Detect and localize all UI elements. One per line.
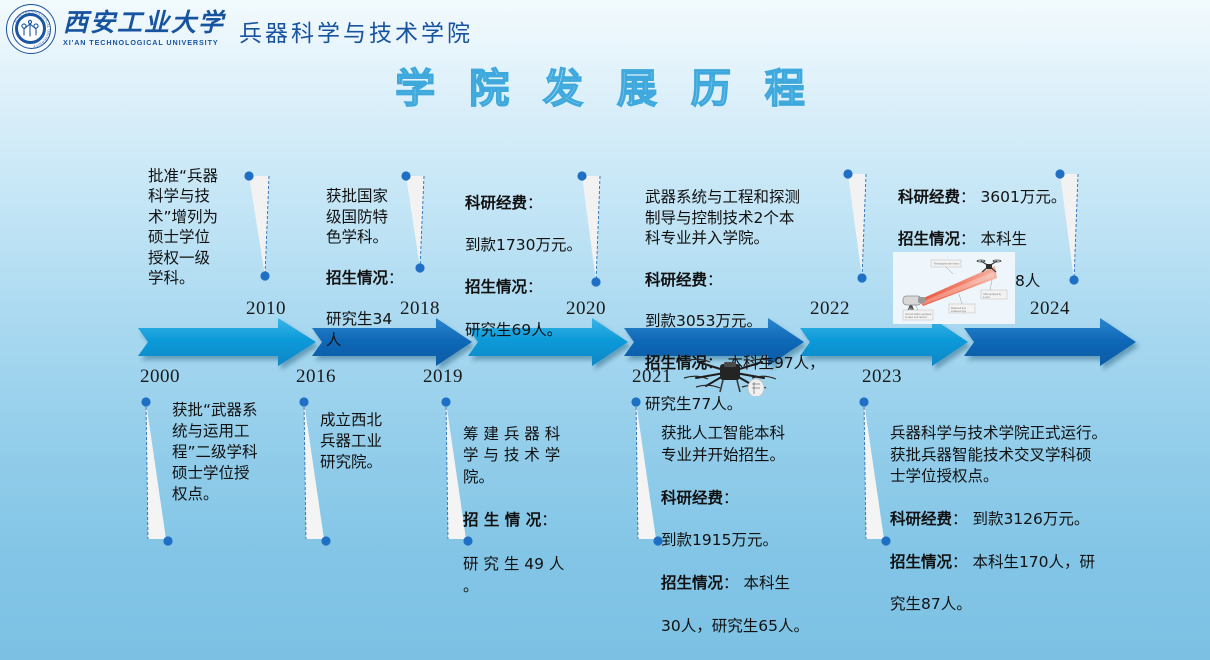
slide-canvas: XI'AN TECHNOLOGICAL UNIVERSITY 西安工业大学 XI…	[0, 0, 1210, 660]
year-label-2023: 2023	[862, 366, 902, 388]
sep-2018: ：	[388, 269, 404, 287]
timeline-arrow-band	[0, 318, 1210, 374]
event-2018-line-1: 获批国家 级国防特 色学科。	[326, 186, 412, 247]
event-2021-funding-value: 到款1915万元。	[661, 530, 847, 551]
multirotor-drone-photo	[676, 352, 784, 396]
event-2021-enrollment-value: 30人，研究生65人。	[661, 616, 847, 637]
university-name-cn: 西安工业大学	[63, 11, 225, 37]
event-2022-funding-row: 科研经费：	[645, 270, 855, 291]
event-2021-funding-row: 科研经费：	[661, 488, 847, 509]
sep-enroll-2024: ： 本科生	[960, 230, 1027, 248]
event-text-2021: 获批人工智能本科 专业并开始招生。 科研经费： 到款1915万元。 招生情况： …	[661, 402, 847, 659]
event-2019-enrollment-value: 研 究 生 49 人 。	[463, 554, 581, 597]
event-2023-enrollment-value: 究生87人。	[890, 594, 1150, 615]
event-2020-funding-value: 到款1730万元。	[465, 235, 595, 256]
timeline-arrow-1	[138, 318, 316, 366]
label-enrollment-2023: 招生情况	[890, 553, 952, 571]
label-enrollment-2018: 招生情况	[326, 269, 388, 287]
event-2021-enrollment-row: 招生情况： 本科生	[661, 573, 847, 594]
event-2022-line-1: 武器系统与工程和探测 制导与控制技术2个本 科专业并入学院。	[645, 187, 855, 249]
event-2020-enrollment-row: 招生情况：	[465, 277, 595, 298]
header-bar: XI'AN TECHNOLOGICAL UNIVERSITY 西安工业大学 XI…	[0, 0, 1210, 58]
label-funding-2022: 科研经费	[645, 271, 707, 289]
label-enrollment-2024: 招生情况	[898, 230, 960, 248]
university-logo-icon: XI'AN TECHNOLOGICAL UNIVERSITY	[6, 4, 56, 54]
event-2024-enrollment-row: 招生情况： 本科生	[898, 229, 1098, 250]
event-2021-line-1: 获批人工智能本科 专业并开始招生。	[661, 423, 847, 466]
event-text-2018: 获批国家 级国防特 色学科。 招生情况： 研究生34 人	[326, 166, 412, 371]
sep-enroll-2021: ： 本科生	[723, 574, 790, 592]
year-label-2000: 2000	[140, 366, 180, 388]
event-text-2019: 筹 建 兵 器 科 学 与 技 术 学 院。 招 生 情 况： 研 究 生 49…	[463, 402, 581, 619]
event-2022-funding-value: 到款3053万元。	[645, 311, 855, 332]
sep-enroll-2023: ： 本科生170人，研	[952, 553, 1095, 571]
label-funding-2021: 科研经费	[661, 489, 723, 507]
event-text-2023: 兵器科学与技术学院正式运行。 获批兵器智能技术交叉学科硕 士学位授权点。 科研经…	[890, 402, 1150, 637]
event-2019-enrollment-row: 招 生 情 况：	[463, 510, 581, 532]
event-2023-funding-row: 科研经费： 到款3126万元。	[890, 509, 1150, 530]
label-funding-2020: 科研经费	[465, 194, 527, 212]
event-text-2020: 科研经费： 到款1730万元。 招生情况： 研究生69人。	[465, 172, 595, 362]
event-2023-enrollment-row: 招生情况： 本科生170人，研	[890, 552, 1150, 573]
laser-tracking-system-photo: Rectangular laser beam Reflected andscat…	[893, 252, 1015, 324]
page-title: 学 院 发 展 历 程	[0, 56, 1210, 114]
event-2020-enrollment-value: 研究生69人。	[465, 320, 595, 341]
sep-funding-2024: ： 3601万元。	[960, 188, 1066, 206]
sep-funding-2020: ：	[527, 194, 543, 212]
university-name-block: 西安工业大学 XI'AN TECHNOLOGICAL UNIVERSITY	[63, 11, 225, 47]
label-enrollment-2020: 招生情况	[465, 278, 527, 296]
sep-funding-2022: ：	[707, 271, 723, 289]
event-text-2010: 批准“兵器 科学与技 术”增列为 硕士学位 授权一级 学科。	[148, 166, 254, 289]
label-enrollment-2019: 招 生 情 况	[463, 511, 541, 529]
event-2024-funding-row: 科研经费： 3601万元。	[898, 187, 1098, 208]
sep-funding-2021: ：	[723, 489, 739, 507]
event-2023-line-1: 兵器科学与技术学院正式运行。 获批兵器智能技术交叉学科硕 士学位授权点。	[890, 423, 1150, 487]
year-label-2010: 2010	[246, 298, 286, 320]
svg-text:scattered rays: scattered rays	[951, 310, 967, 313]
event-2020-funding-row: 科研经费：	[465, 193, 595, 214]
svg-text:a retro: a retro	[983, 296, 991, 299]
sep-funding-2023: ： 到款3126万元。	[952, 510, 1089, 528]
label-enrollment-2021: 招生情况	[661, 574, 723, 592]
label-funding-2023: 科研经费	[890, 510, 952, 528]
year-label-2019: 2019	[423, 366, 463, 388]
timeline-arrow-6	[964, 318, 1136, 366]
label-funding-2024: 科研经费	[898, 188, 960, 206]
svg-text:by laser and camera: by laser and camera	[905, 316, 927, 319]
event-2018-enrollment-row: 招生情况：	[326, 268, 412, 288]
event-2018-line-2: 研究生34 人	[326, 309, 412, 350]
sep-enroll-2019: ：	[541, 511, 557, 529]
svg-text:Rectangular laser beam: Rectangular laser beam	[934, 263, 959, 266]
event-text-2000: 获批“武器系 统与运用工 程”二级学科 硕士学位授 权点。	[172, 400, 284, 505]
event-2019-line-1: 筹 建 兵 器 科 学 与 技 术 学 院。	[463, 424, 581, 489]
sep-enroll-2020: ：	[527, 278, 543, 296]
college-name: 兵器科学与技术学院	[239, 10, 473, 48]
university-name-en: XI'AN TECHNOLOGICAL UNIVERSITY	[63, 38, 225, 47]
event-text-2016: 成立西北 兵器工业 研究院。	[320, 410, 416, 473]
logo-emblem-icon	[18, 17, 42, 39]
